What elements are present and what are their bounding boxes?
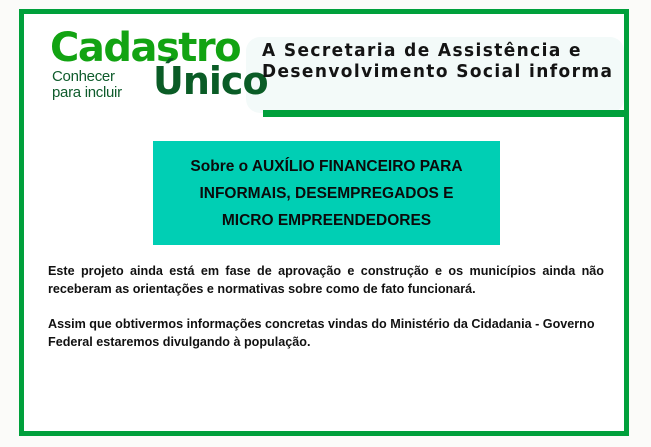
header-headline: A Secretaria de Assistência e Desenvolvi… [262,41,624,83]
subject-callout-box: Sobre o AUXÍLIO FINANCEIRO PARA INFORMAI… [153,141,500,245]
logo-tagline-line1: Conhecer [52,69,156,85]
poster-header: Cadastro Conhecer para incluir Único A S… [24,14,624,122]
body-copy: Este projeto ainda está em fase de aprov… [48,263,604,351]
logo-wordmark-unico: Único [153,61,268,101]
callout-line-3: MICRO EMPREENDEDORES [222,207,431,234]
logo-tagline-line2: para incluir [52,85,156,101]
body-paragraph-2: Assim que obtivermos informações concret… [48,316,604,351]
headline-line-1: A Secretaria de Assistência e [262,41,613,62]
callout-line-1: Sobre o AUXÍLIO FINANCEIRO PARA [190,153,462,180]
callout-line-1-main: AUXÍLIO FINANCEIRO PARA [252,158,463,175]
cadastro-unico-logo: Cadastro Conhecer para incluir Único [50,27,265,113]
body-paragraph-1: Este projeto ainda está em fase de aprov… [48,263,604,298]
announcement-poster: Cadastro Conhecer para incluir Único A S… [19,9,629,436]
callout-line-2: INFORMAIS, DESEMPREGADOS E [199,180,453,207]
logo-tagline: Conhecer para incluir [52,69,156,101]
headline-line-2: Desenvolvimento Social informa [262,62,613,83]
callout-line-1-lead: Sobre o [190,158,251,175]
header-green-rule [263,110,624,117]
